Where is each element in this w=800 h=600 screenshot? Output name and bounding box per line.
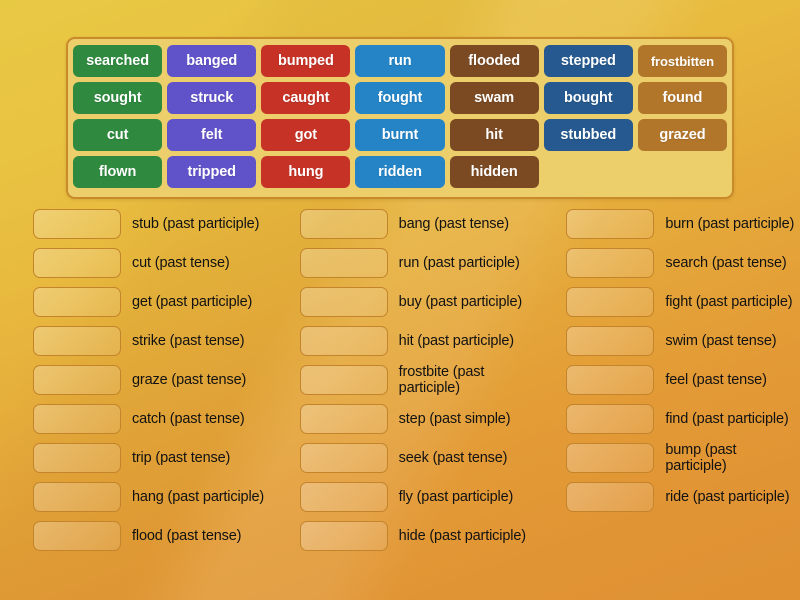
drop-slot[interactable]	[566, 287, 654, 317]
answer-row: flood (past tense)	[33, 517, 267, 555]
answer-row: catch (past tense)	[33, 400, 267, 438]
answer-prompt-label: bump (past participle)	[665, 442, 800, 474]
word-tile[interactable]: hung	[261, 156, 350, 188]
drop-slot[interactable]	[566, 326, 654, 356]
answer-area: stub (past participle)cut (past tense)ge…	[0, 205, 800, 556]
drop-slot[interactable]	[300, 521, 388, 551]
answer-prompt-label: ride (past participle)	[665, 489, 789, 505]
answer-prompt-label: catch (past tense)	[132, 411, 245, 427]
word-tile[interactable]: flooded	[450, 45, 539, 77]
answer-row: graze (past tense)	[33, 361, 267, 399]
answer-row: fight (past participle)	[566, 283, 800, 321]
answer-prompt-label: hide (past participle)	[399, 528, 526, 544]
answer-prompt-label: search (past tense)	[665, 255, 786, 271]
drop-slot[interactable]	[566, 404, 654, 434]
drop-slot[interactable]	[300, 326, 388, 356]
word-tile[interactable]: searched	[73, 45, 162, 77]
answer-row: find (past participle)	[566, 400, 800, 438]
drop-slot[interactable]	[566, 443, 654, 473]
answer-row: fly (past participle)	[300, 478, 534, 516]
drop-slot[interactable]	[300, 482, 388, 512]
drop-slot[interactable]	[300, 365, 388, 395]
word-bank-row: searchedbangedbumpedrunfloodedsteppedfro…	[73, 45, 727, 77]
answer-row: feel (past tense)	[566, 361, 800, 399]
answer-prompt-label: fight (past participle)	[665, 294, 792, 310]
answer-row: burn (past participle)	[566, 205, 800, 243]
word-tile[interactable]: run	[355, 45, 444, 77]
word-tile[interactable]: struck	[167, 82, 256, 114]
drop-slot[interactable]	[33, 365, 121, 395]
drop-slot[interactable]	[33, 248, 121, 278]
drop-slot[interactable]	[33, 404, 121, 434]
answer-prompt-label: swim (past tense)	[665, 333, 776, 349]
word-tile[interactable]: hidden	[450, 156, 539, 188]
word-tile[interactable]: fought	[355, 82, 444, 114]
drop-slot[interactable]	[33, 482, 121, 512]
answer-row: stub (past participle)	[33, 205, 267, 243]
drop-slot[interactable]	[300, 404, 388, 434]
word-tile[interactable]: bought	[544, 82, 633, 114]
word-tile[interactable]: grazed	[638, 119, 727, 151]
word-tile[interactable]: got	[261, 119, 350, 151]
answer-row: strike (past tense)	[33, 322, 267, 360]
drop-slot[interactable]	[566, 482, 654, 512]
answer-row: bang (past tense)	[300, 205, 534, 243]
drop-slot[interactable]	[33, 521, 121, 551]
word-tile-placeholder	[638, 156, 727, 188]
answer-prompt-label: bang (past tense)	[399, 216, 509, 232]
answer-row: run (past participle)	[300, 244, 534, 282]
word-tile-placeholder	[544, 156, 633, 188]
answer-column-3: burn (past participle)search (past tense…	[533, 205, 800, 556]
answer-column-1: stub (past participle)cut (past tense)ge…	[0, 205, 267, 556]
word-bank-row: soughtstruckcaughtfoughtswamboughtfound	[73, 82, 727, 114]
word-tile[interactable]: stepped	[544, 45, 633, 77]
answer-prompt-label: trip (past tense)	[132, 450, 230, 466]
word-bank-row: flowntrippedhungriddenhidden	[73, 156, 727, 188]
answer-prompt-label: run (past participle)	[399, 255, 520, 271]
word-tile[interactable]: tripped	[167, 156, 256, 188]
drop-slot[interactable]	[300, 443, 388, 473]
answer-prompt-label: stub (past participle)	[132, 216, 259, 232]
word-tile[interactable]: flown	[73, 156, 162, 188]
word-tile[interactable]: cut	[73, 119, 162, 151]
answer-row: cut (past tense)	[33, 244, 267, 282]
answer-row: buy (past participle)	[300, 283, 534, 321]
drop-slot[interactable]	[566, 209, 654, 239]
answer-prompt-label: step (past simple)	[399, 411, 511, 427]
word-tile[interactable]: ridden	[355, 156, 444, 188]
answer-row: search (past tense)	[566, 244, 800, 282]
drop-slot[interactable]	[566, 248, 654, 278]
drop-slot[interactable]	[300, 287, 388, 317]
answer-prompt-label: strike (past tense)	[132, 333, 244, 349]
answer-prompt-label: fly (past participle)	[399, 489, 514, 505]
answer-prompt-label: cut (past tense)	[132, 255, 230, 271]
answer-prompt-label: hang (past participle)	[132, 489, 264, 505]
word-tile[interactable]: bumped	[261, 45, 350, 77]
word-tile[interactable]: banged	[167, 45, 256, 77]
answer-prompt-label: burn (past participle)	[665, 216, 794, 232]
answer-row: bump (past participle)	[566, 439, 800, 477]
word-bank-row: cutfeltgotburnthitstubbedgrazed	[73, 119, 727, 151]
answer-column-2: bang (past tense)run (past participle)bu…	[267, 205, 534, 556]
answer-prompt-label: graze (past tense)	[132, 372, 246, 388]
drop-slot[interactable]	[300, 248, 388, 278]
word-tile[interactable]: felt	[167, 119, 256, 151]
word-bank-panel: searchedbangedbumpedrunfloodedsteppedfro…	[66, 37, 734, 199]
word-tile[interactable]: sought	[73, 82, 162, 114]
answer-row: trip (past tense)	[33, 439, 267, 477]
answer-prompt-label: seek (past tense)	[399, 450, 508, 466]
answer-prompt-label: hit (past participle)	[399, 333, 514, 349]
answer-row: hit (past participle)	[300, 322, 534, 360]
answer-row: step (past simple)	[300, 400, 534, 438]
drop-slot[interactable]	[566, 365, 654, 395]
word-tile[interactable]: frostbitten	[638, 45, 727, 77]
answer-prompt-label: feel (past tense)	[665, 372, 766, 388]
answer-row: get (past participle)	[33, 283, 267, 321]
word-tile[interactable]: swam	[450, 82, 539, 114]
drop-slot[interactable]	[33, 443, 121, 473]
answer-row: frostbite (past participle)	[300, 361, 534, 399]
answer-row: hide (past participle)	[300, 517, 534, 555]
drop-slot[interactable]	[33, 326, 121, 356]
answer-row: hang (past participle)	[33, 478, 267, 516]
answer-prompt-label: flood (past tense)	[132, 528, 241, 544]
answer-row: ride (past participle)	[566, 478, 800, 516]
answer-prompt-label: find (past participle)	[665, 411, 788, 427]
drop-slot[interactable]	[33, 209, 121, 239]
word-tile[interactable]: caught	[261, 82, 350, 114]
answer-row: swim (past tense)	[566, 322, 800, 360]
word-tile[interactable]: stubbed	[544, 119, 633, 151]
answer-prompt-label: frostbite (past participle)	[399, 364, 534, 396]
drop-slot[interactable]	[300, 209, 388, 239]
word-tile[interactable]: hit	[450, 119, 539, 151]
word-tile[interactable]: found	[638, 82, 727, 114]
answer-prompt-label: buy (past participle)	[399, 294, 522, 310]
word-tile[interactable]: burnt	[355, 119, 444, 151]
drop-slot[interactable]	[33, 287, 121, 317]
answer-row: seek (past tense)	[300, 439, 534, 477]
answer-prompt-label: get (past participle)	[132, 294, 252, 310]
